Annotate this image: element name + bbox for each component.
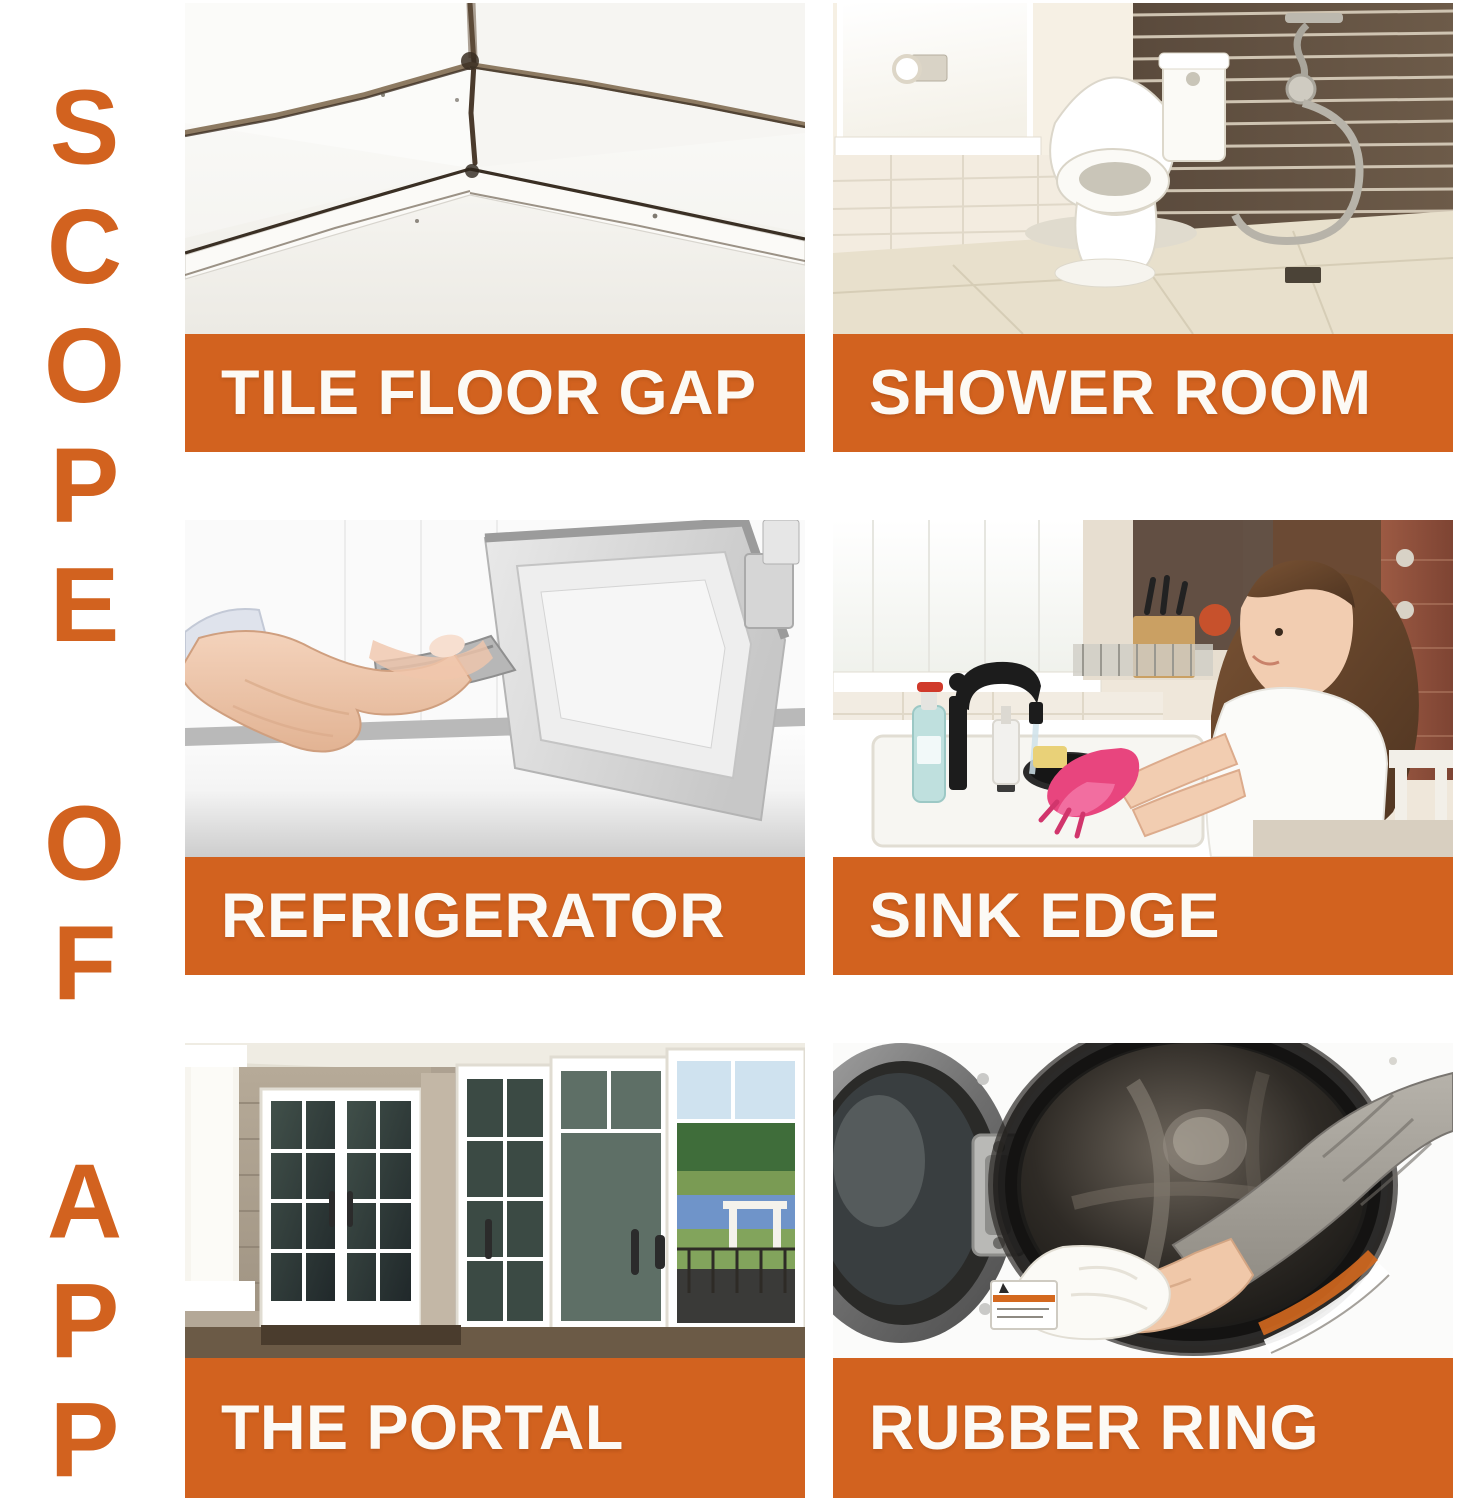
application-scope-grid: TILE FLOOR GAP (185, 3, 1453, 1500)
rubber-ring-illustration (833, 1043, 1453, 1358)
card-label: SINK EDGE (869, 885, 1220, 948)
card-shower-room: SHOWER ROOM (833, 3, 1453, 452)
card-label: SHOWER ROOM (869, 362, 1372, 425)
card-the-portal: THE PORTAL (185, 1043, 805, 1498)
card-label: REFRIGERATOR (221, 885, 725, 948)
card-rubber-ring: RUBBER RING (833, 1043, 1453, 1498)
card-tile-floor-gap: TILE FLOOR GAP (185, 3, 805, 452)
label-bar-shower-room: SHOWER ROOM (833, 334, 1453, 452)
sink-edge-illustration (833, 520, 1453, 857)
scope-of-application-title: SCOPE OF APPLICATION (0, 0, 175, 1500)
photo-refrigerator (185, 520, 805, 857)
side-title-text: SCOPE OF APPLICATION (33, 69, 137, 1500)
card-label: RUBBER RING (869, 1397, 1319, 1460)
label-bar-the-portal: THE PORTAL (185, 1358, 805, 1498)
refrigerator-illustration (185, 520, 805, 857)
tile-floor-gap-illustration (185, 3, 805, 334)
photo-shower-room (833, 3, 1453, 334)
label-bar-tile-floor-gap: TILE FLOOR GAP (185, 334, 805, 452)
card-label: THE PORTAL (221, 1397, 624, 1460)
photo-tile-floor-gap (185, 3, 805, 334)
card-sink-edge: SINK EDGE (833, 520, 1453, 975)
label-bar-refrigerator: REFRIGERATOR (185, 857, 805, 975)
photo-rubber-ring (833, 1043, 1453, 1358)
the-portal-illustration (185, 1043, 805, 1358)
card-label: TILE FLOOR GAP (221, 362, 757, 425)
photo-the-portal (185, 1043, 805, 1358)
card-refrigerator: REFRIGERATOR (185, 520, 805, 975)
label-bar-rubber-ring: RUBBER RING (833, 1358, 1453, 1498)
shower-room-illustration (833, 3, 1453, 334)
photo-sink-edge (833, 520, 1453, 857)
label-bar-sink-edge: SINK EDGE (833, 857, 1453, 975)
